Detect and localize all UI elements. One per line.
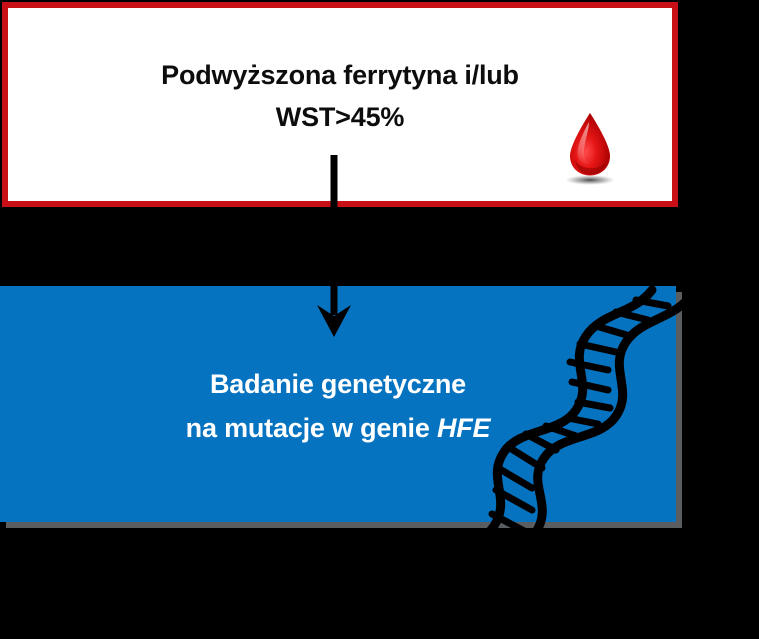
gene-name-hfe: HFE [437,413,490,443]
node-genetic-test-line2-prefix: na mutacje w genie [186,413,437,443]
slide-canvas: Badanie genetyczne na mutacje w genie HF… [0,0,759,639]
node-genetic-test-line1: Badanie genetyczne [0,362,676,406]
node-genetic-test-label: Badanie genetyczne na mutacje w genie HF… [0,362,676,450]
node-genetic-test-line2: na mutacje w genie HFE [0,406,676,450]
node-elevated-ferritin-line1: Podwyższona ferrytyna i/lub [8,54,672,96]
arrow-down-icon [311,155,357,341]
blood-drop-icon [562,110,622,188]
